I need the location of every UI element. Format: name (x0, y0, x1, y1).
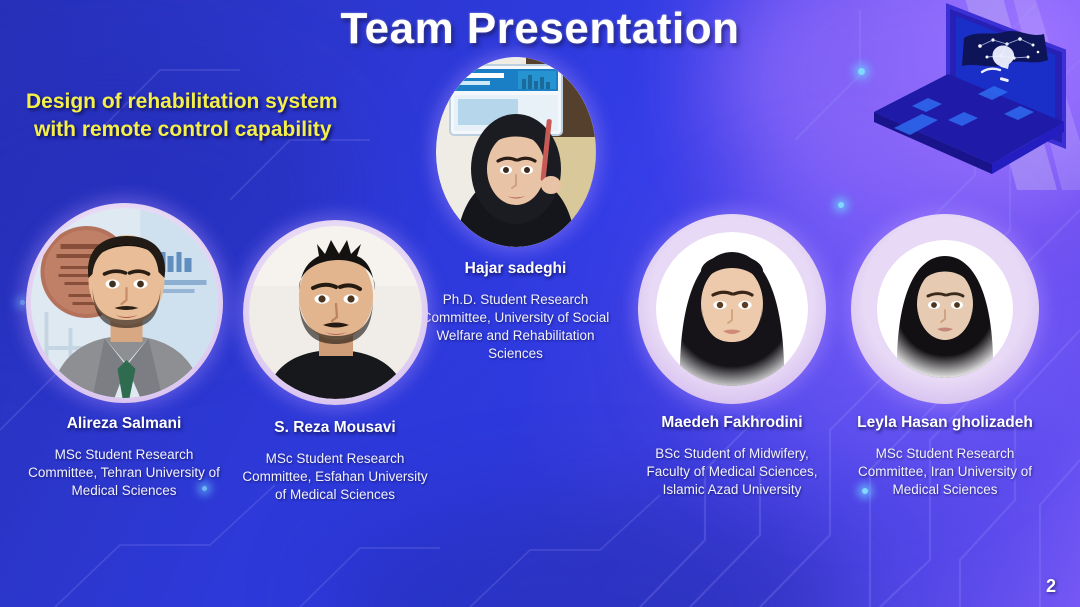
member-role: MSc Student Research Committee, Esfahan … (225, 450, 445, 504)
slide-page-number: 2 (1046, 576, 1056, 597)
avatar (638, 214, 826, 404)
glow-dot (838, 202, 844, 208)
avatar (436, 57, 596, 247)
team-member-s-reza-mousavi[interactable]: S. Reza Mousavi MSc Student Research Com… (225, 220, 445, 504)
project-subtitle: Design of rehabilitation system with rem… (26, 88, 406, 143)
member-name: Alireza Salmani (10, 415, 238, 433)
project-subtitle-line2: with remote control capability (26, 116, 406, 144)
member-name: Leyla Hasan gholizadeh (838, 414, 1052, 432)
team-member-leyla-hasan-gholizadeh[interactable]: Leyla Hasan gholizadeh MSc Student Resea… (838, 214, 1052, 499)
presentation-slide: Team Presentation Design of rehabilitati… (0, 0, 1080, 607)
team-member-maedeh-fakhrodini[interactable]: Maedeh Fakhrodini BSc Student of Midwife… (630, 214, 834, 499)
member-name: S. Reza Mousavi (225, 419, 445, 437)
member-role: BSc Student of Midwifery, Faculty of Med… (630, 445, 834, 499)
project-subtitle-line1: Design of rehabilitation system (26, 88, 406, 116)
avatar (243, 220, 428, 405)
portrait-hajar-sadeghi (436, 57, 596, 247)
avatar (851, 214, 1039, 404)
avatar (26, 203, 223, 403)
portrait-leyla-hasan-gholizadeh (877, 240, 1013, 378)
portrait-alireza-salmani (31, 208, 218, 398)
member-role: MSc Student Research Committee, Tehran U… (10, 446, 238, 500)
member-role: MSc Student Research Committee, Iran Uni… (838, 445, 1052, 499)
portrait-maedeh-fakhrodini (656, 232, 808, 386)
page-title: Team Presentation (0, 4, 1080, 54)
team-member-alireza-salmani[interactable]: Alireza Salmani MSc Student Research Com… (10, 203, 238, 500)
member-name: Maedeh Fakhrodini (630, 414, 834, 432)
portrait-s-reza-mousavi (249, 226, 422, 399)
